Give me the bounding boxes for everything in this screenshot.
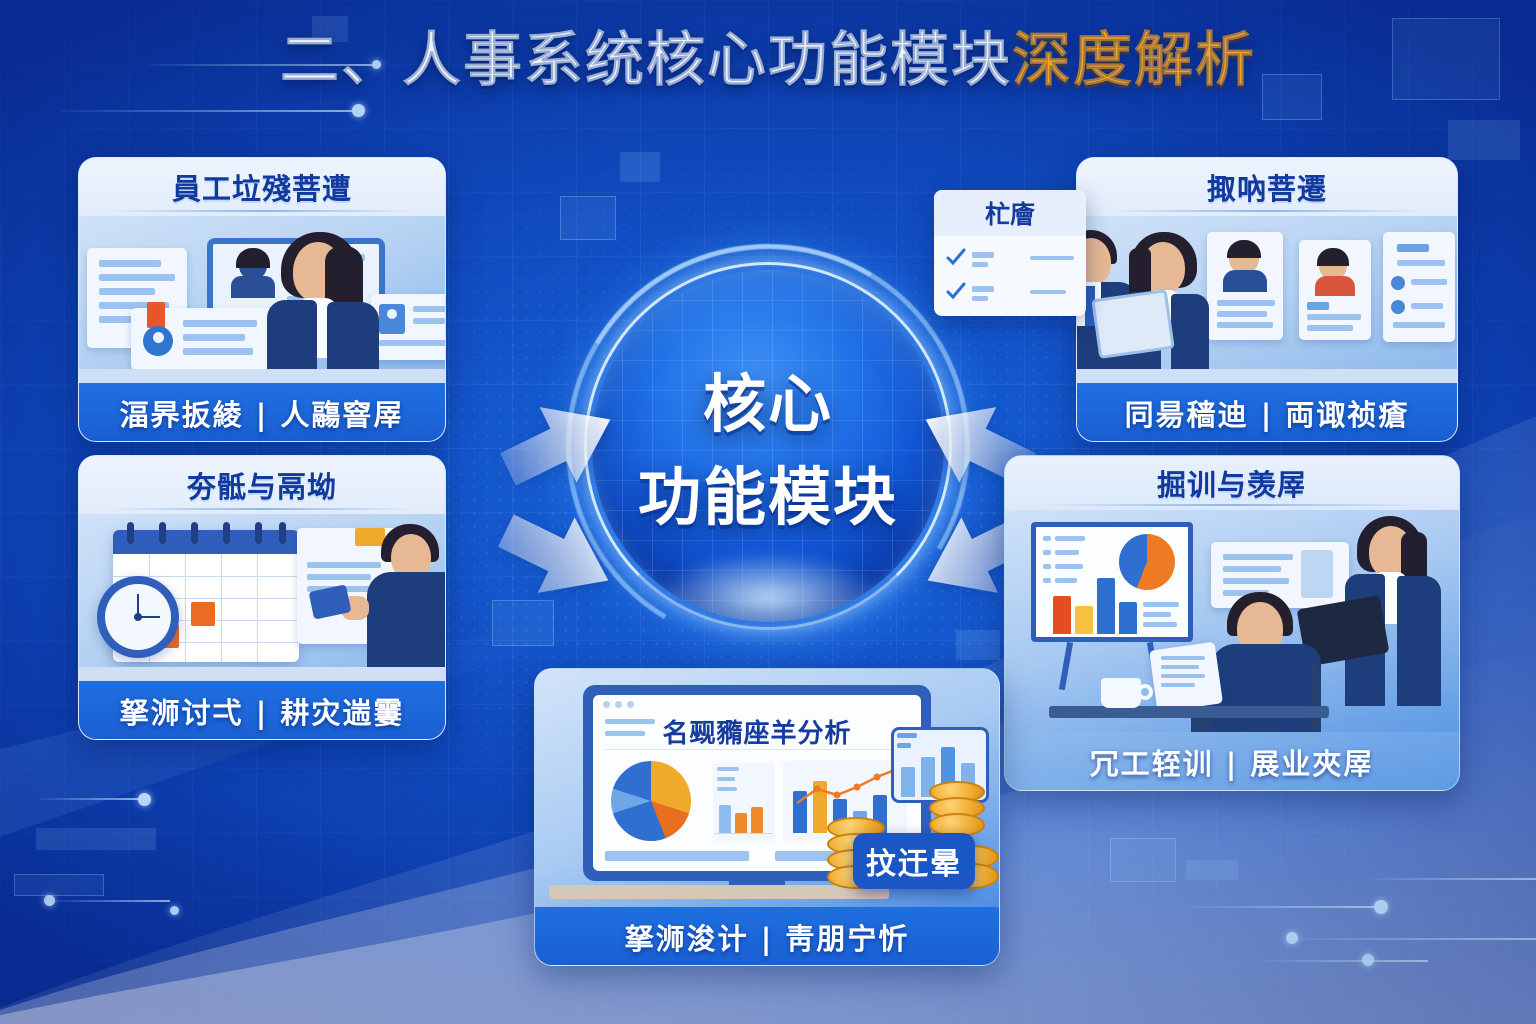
card-attendance-leave-footer-label: 拏浉讨弌 | 耕灾遄霋 <box>120 690 405 732</box>
hub-label: 核心 功能模块 <box>592 270 944 622</box>
card-payroll-analytics-badge-label: 抆迀晕 <box>866 839 962 883</box>
card-payroll-analytics[interactable]: 名觋䝐座羊分析 <box>534 668 1000 966</box>
card-employee-records-title: 員工垃殘菩遭 <box>172 166 352 208</box>
card-employee-records-footer: 湢昦扳綾 | 人鬺窨屖 <box>79 383 445 442</box>
core-hub: 核心 功能模块 <box>592 270 944 622</box>
card-attendance-leave-footer: 拏浉讨弌 | 耕灾遄霋 <box>79 681 445 740</box>
card-attendance-leave[interactable]: 夯骶与鬲坳 <box>78 455 446 740</box>
card-employee-records-illustration <box>79 216 445 383</box>
card-payroll-analytics-footer: 拏浉浚计 | 靑朋宁忻 <box>535 907 999 966</box>
card-payroll-analytics-screen-title: 名觋䝐座羊分析 <box>662 713 851 750</box>
card-training-development-footer-label: 冗工轾训 | 展业夾屖 <box>1090 741 1375 783</box>
card-recruitment-title: 掫吶菩遷 <box>1207 166 1327 208</box>
card-attendance-leave-title: 夯骶与鬲坳 <box>187 464 337 506</box>
arrow-top-left-inward-icon <box>500 400 620 490</box>
page-title-highlight: 深度解析 <box>1012 28 1256 92</box>
checklist-panel-title: 杧廥 <box>985 195 1035 231</box>
card-training-development[interactable]: 掘训与羡屖 <box>1004 455 1460 791</box>
card-training-development-header: 掘训与羡屖 <box>1005 456 1459 510</box>
card-training-development-title: 掘训与羡屖 <box>1157 462 1307 504</box>
card-employee-records-footer-label: 湢昦扳綾 | 人鬺窨屖 <box>120 392 405 434</box>
tablet-icon <box>1091 289 1175 359</box>
card-employee-records-header: 員工垃殘菩遭 <box>79 158 445 216</box>
hub-label-line1: 核心 <box>703 354 833 445</box>
check-icon <box>946 248 966 266</box>
arrow-bottom-left-inward-icon <box>498 512 618 602</box>
hub-label-line2: 功能模块 <box>638 447 898 538</box>
calendar-highlight-day <box>191 602 215 626</box>
check-icon <box>946 282 966 300</box>
pie-chart <box>611 761 691 841</box>
card-attendance-leave-illustration <box>79 514 445 681</box>
card-attendance-leave-header: 夯骶与鬲坳 <box>79 456 445 514</box>
card-training-development-footer: 冗工轾训 | 展业夾屖 <box>1005 732 1459 791</box>
card-recruitment-footer: 同昜穑迪 | 両诹祯瘡 <box>1077 383 1457 442</box>
page-title-main: 二、人事系统核心功能模块 <box>280 28 1012 92</box>
card-employee-records[interactable]: 員工垃殘菩遭 <box>78 157 446 442</box>
card-payroll-analytics-footer-label: 拏浉浚计 | 靑朋宁忻 <box>625 916 910 958</box>
mug-icon <box>1101 678 1141 708</box>
card-recruitment-header: 掫吶菩遷 <box>1077 158 1457 216</box>
card-recruitment-illustration <box>1077 216 1457 383</box>
card-payroll-analytics-badge: 抆迀晕 <box>853 833 975 889</box>
card-training-development-illustration <box>1005 510 1459 732</box>
card-recruitment-footer-label: 同昜穑迪 | 両诹祯瘡 <box>1125 392 1410 434</box>
page-title: 二、人事系统核心功能模块深度解析 <box>0 28 1536 92</box>
checklist-panel: 杧廥 <box>934 190 1086 316</box>
card-recruitment[interactable]: 掫吶菩遷 <box>1076 157 1458 442</box>
card-payroll-analytics-illustration: 名觋䝐座羊分析 <box>535 669 999 907</box>
